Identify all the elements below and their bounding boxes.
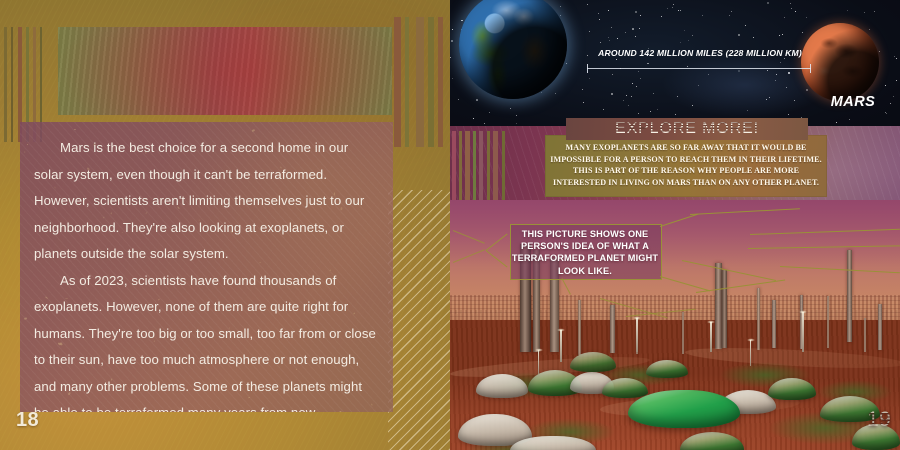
star (555, 93, 556, 94)
stripe (459, 131, 462, 200)
star (640, 15, 641, 16)
skyscraper-tower (610, 305, 615, 353)
page-number-left: 18 (16, 409, 39, 432)
star (784, 17, 785, 18)
star (582, 89, 583, 90)
street-lamp-light (632, 316, 642, 320)
star (795, 11, 796, 12)
star (729, 15, 730, 16)
star (608, 37, 609, 38)
mars-label: MARS (808, 94, 898, 110)
explore-more-heading: EXPLORE MORE! (566, 118, 808, 140)
star (608, 10, 609, 11)
book-spread: EXOPLANETS Mars is the best choice for a… (0, 0, 900, 450)
street-lamp-pole (750, 340, 751, 366)
star (609, 40, 610, 41)
star (790, 3, 791, 4)
page-title: EXOPLANETS (58, 43, 392, 99)
body-copy: Mars is the best choice for a second hom… (20, 122, 393, 412)
star (461, 20, 463, 22)
star (869, 29, 870, 30)
star (616, 59, 617, 60)
star (885, 85, 886, 86)
star (611, 93, 613, 95)
star (702, 15, 703, 16)
star (791, 8, 792, 9)
skyscraper-tower (772, 300, 776, 348)
star (452, 78, 453, 79)
star (516, 123, 517, 124)
street-lamp-light (746, 338, 756, 342)
page-title-text: EXOPLANETS (58, 43, 392, 99)
explore-more-body: MANY EXOPLANETS ARE SO FAR AWAY THAT IT … (550, 142, 822, 188)
skyscraper-tower (827, 296, 829, 348)
star (896, 80, 897, 81)
star (623, 100, 624, 101)
star (635, 36, 636, 37)
left-page: EXOPLANETS Mars is the best choice for a… (0, 0, 450, 450)
green-transport-pod (628, 390, 740, 428)
star (886, 113, 887, 114)
terraformed-mars-city-illustration (450, 200, 900, 450)
star (589, 78, 590, 79)
star (541, 92, 542, 93)
star (847, 10, 848, 11)
star (599, 19, 600, 20)
star (661, 16, 662, 17)
star (782, 34, 783, 35)
street-lamp-light (556, 328, 566, 332)
skyscraper-tower (578, 300, 581, 355)
star (802, 32, 803, 33)
skyscraper-tower (722, 270, 727, 348)
star (753, 37, 754, 38)
stripe (428, 17, 434, 147)
star (731, 11, 732, 12)
space-diagram: AROUND 142 MILLION MILES (228 MILLION KM… (450, 0, 900, 126)
explore-band-stripes (450, 131, 510, 200)
star (684, 30, 685, 31)
star (587, 4, 588, 5)
stripe (502, 131, 505, 200)
skyscraper-tower (715, 263, 722, 349)
star (450, 57, 451, 58)
star (589, 31, 590, 32)
star (476, 99, 478, 101)
stripe (487, 131, 490, 200)
star (458, 99, 459, 100)
explore-more-heading-plate: EXPLORE MORE! (566, 118, 808, 140)
star (806, 17, 807, 18)
stripe (479, 131, 483, 200)
skyscraper-tower (864, 318, 866, 352)
stripe (473, 131, 476, 200)
diagonal-hatch-decoration (388, 190, 450, 450)
skyscraper-tower (533, 250, 540, 352)
star (864, 12, 865, 13)
star (894, 56, 895, 57)
street-lamp-pole (802, 312, 804, 352)
star (583, 102, 584, 103)
page-number-right: 19 (867, 408, 891, 432)
stripe (452, 131, 456, 200)
star (510, 108, 511, 109)
right-edge-stripes (392, 17, 450, 147)
star (611, 27, 612, 28)
body-text-panel: Mars is the best choice for a second hom… (20, 122, 393, 412)
distance-label: AROUND 142 MILLION MILES (228 MILLION KM… (580, 48, 820, 58)
star (516, 115, 517, 116)
street-lamp-pole (710, 322, 712, 352)
street-lamp-pole (636, 318, 638, 352)
stripe (4, 27, 7, 142)
star (451, 40, 453, 42)
star (639, 28, 640, 29)
title-banner: EXOPLANETS (58, 27, 392, 115)
mars-planet-icon (801, 23, 879, 101)
street-lamp-light (798, 310, 808, 314)
star (617, 38, 618, 39)
star (635, 11, 637, 13)
paragraph-2: As of 2023, scientists have found thousa… (34, 268, 379, 413)
distance-measure-line (587, 68, 811, 69)
star (672, 7, 673, 8)
star (612, 74, 613, 75)
stripe (394, 17, 401, 147)
right-page: AROUND 142 MILLION MILES (228 MILLION KM… (450, 0, 900, 450)
star (560, 15, 561, 16)
star (745, 25, 746, 26)
star (767, 2, 769, 4)
street-lamp-light (706, 320, 716, 324)
star (779, 35, 780, 36)
star (626, 95, 627, 96)
star (678, 10, 679, 11)
star (632, 28, 634, 30)
star (473, 118, 474, 119)
skyscraper-tower (878, 304, 882, 350)
star (692, 35, 693, 36)
star (603, 109, 604, 110)
skyscraper-tower (847, 250, 852, 342)
star (673, 4, 674, 5)
skyscraper-tower (550, 258, 559, 352)
street-lamp-pole (560, 330, 562, 362)
stripe (405, 17, 409, 147)
star (560, 6, 561, 7)
stripe (416, 17, 424, 147)
star (452, 29, 453, 30)
stripe (11, 27, 13, 142)
skyscraper-tower (520, 244, 531, 352)
paragraph-1: Mars is the best choice for a second hom… (34, 135, 379, 268)
star (879, 51, 880, 52)
star (598, 13, 599, 14)
star (680, 10, 681, 11)
street-lamp-pole (538, 350, 539, 374)
skyscraper-tower (682, 312, 684, 354)
skyscraper-tower (757, 288, 760, 350)
star (896, 58, 897, 59)
street-lamp-light (534, 348, 544, 352)
star (600, 42, 601, 43)
star (874, 11, 875, 12)
star (667, 8, 668, 9)
star (625, 32, 626, 33)
stripe (465, 131, 470, 200)
star (484, 123, 485, 124)
star (738, 34, 740, 36)
stripe (493, 131, 498, 200)
star (566, 63, 567, 64)
star (489, 112, 490, 113)
stripe (438, 17, 443, 147)
